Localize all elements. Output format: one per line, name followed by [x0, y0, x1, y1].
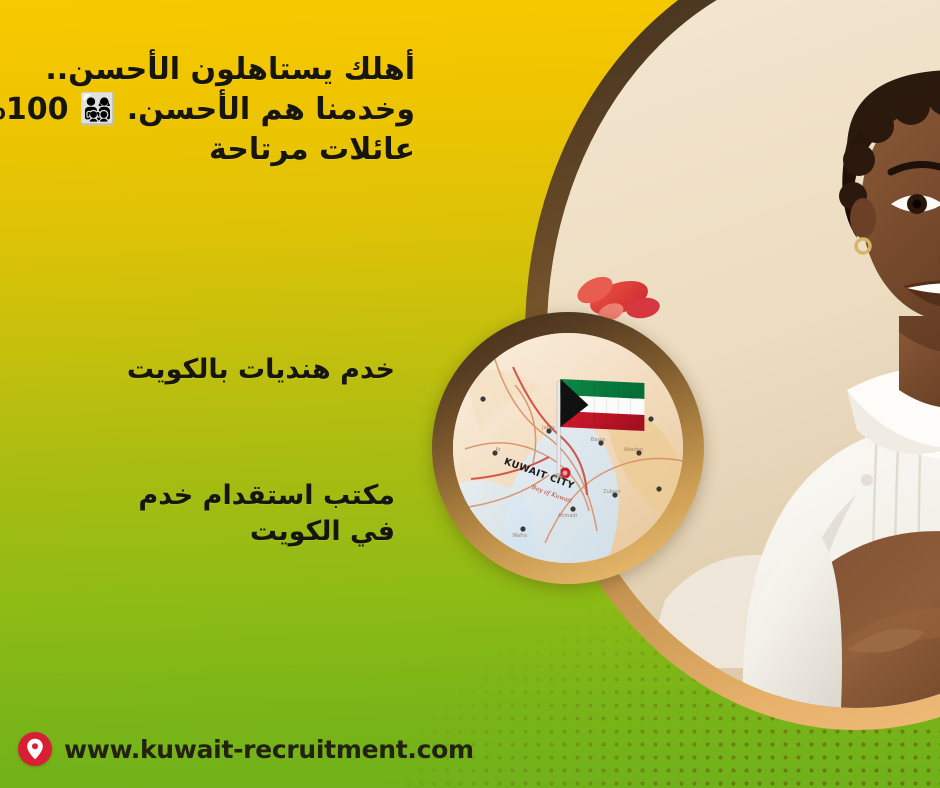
website-url[interactable]: www.kuwait-recruitment.com — [64, 735, 474, 764]
tagline-recruitment-office: مكتب استقدام خدم في الكويت — [60, 478, 395, 550]
tagline-indian-maids: خدم هنديات بالكويت — [60, 352, 395, 387]
svg-text:Basra: Basra — [591, 437, 605, 443]
tagline-2-line-2: في الكويت — [60, 514, 395, 550]
poster-canvas: JENNIFER — [0, 0, 940, 788]
tagline-2-line-1: مكتب استقدام خدم — [60, 478, 395, 514]
map-illustration: ArJahra BasraAbadan AhmadiWafra Zubayr K… — [453, 333, 683, 563]
map-circle-frame: ArJahra BasraAbadan AhmadiWafra Zubayr K… — [432, 312, 704, 584]
headline-text: أهلك يستاهلون الأحسن.. وخدمنا هم الأحسن.… — [60, 50, 415, 170]
headline-line-3: عائلات مرتاحة — [60, 130, 415, 170]
location-pin-icon — [18, 732, 52, 766]
svg-text:Ar: Ar — [496, 447, 502, 453]
headline-line-1: أهلك يستاهلون الأحسن.. — [60, 50, 415, 90]
headline-line-2: وخدمنا هم الأحسن. 👨‍👩‍👧‍👦 100% — [60, 90, 415, 130]
svg-text:Jahra: Jahra — [541, 425, 555, 431]
footer-website-bar[interactable]: www.kuwait-recruitment.com — [18, 732, 474, 766]
kuwait-map-inset: ArJahra BasraAbadan AhmadiWafra Zubayr K… — [453, 333, 683, 563]
svg-text:Wafra: Wafra — [512, 533, 527, 539]
svg-text:Abadan: Abadan — [624, 447, 643, 453]
svg-text:Zubayr: Zubayr — [603, 489, 622, 495]
svg-text:Ahmadi: Ahmadi — [558, 513, 577, 519]
